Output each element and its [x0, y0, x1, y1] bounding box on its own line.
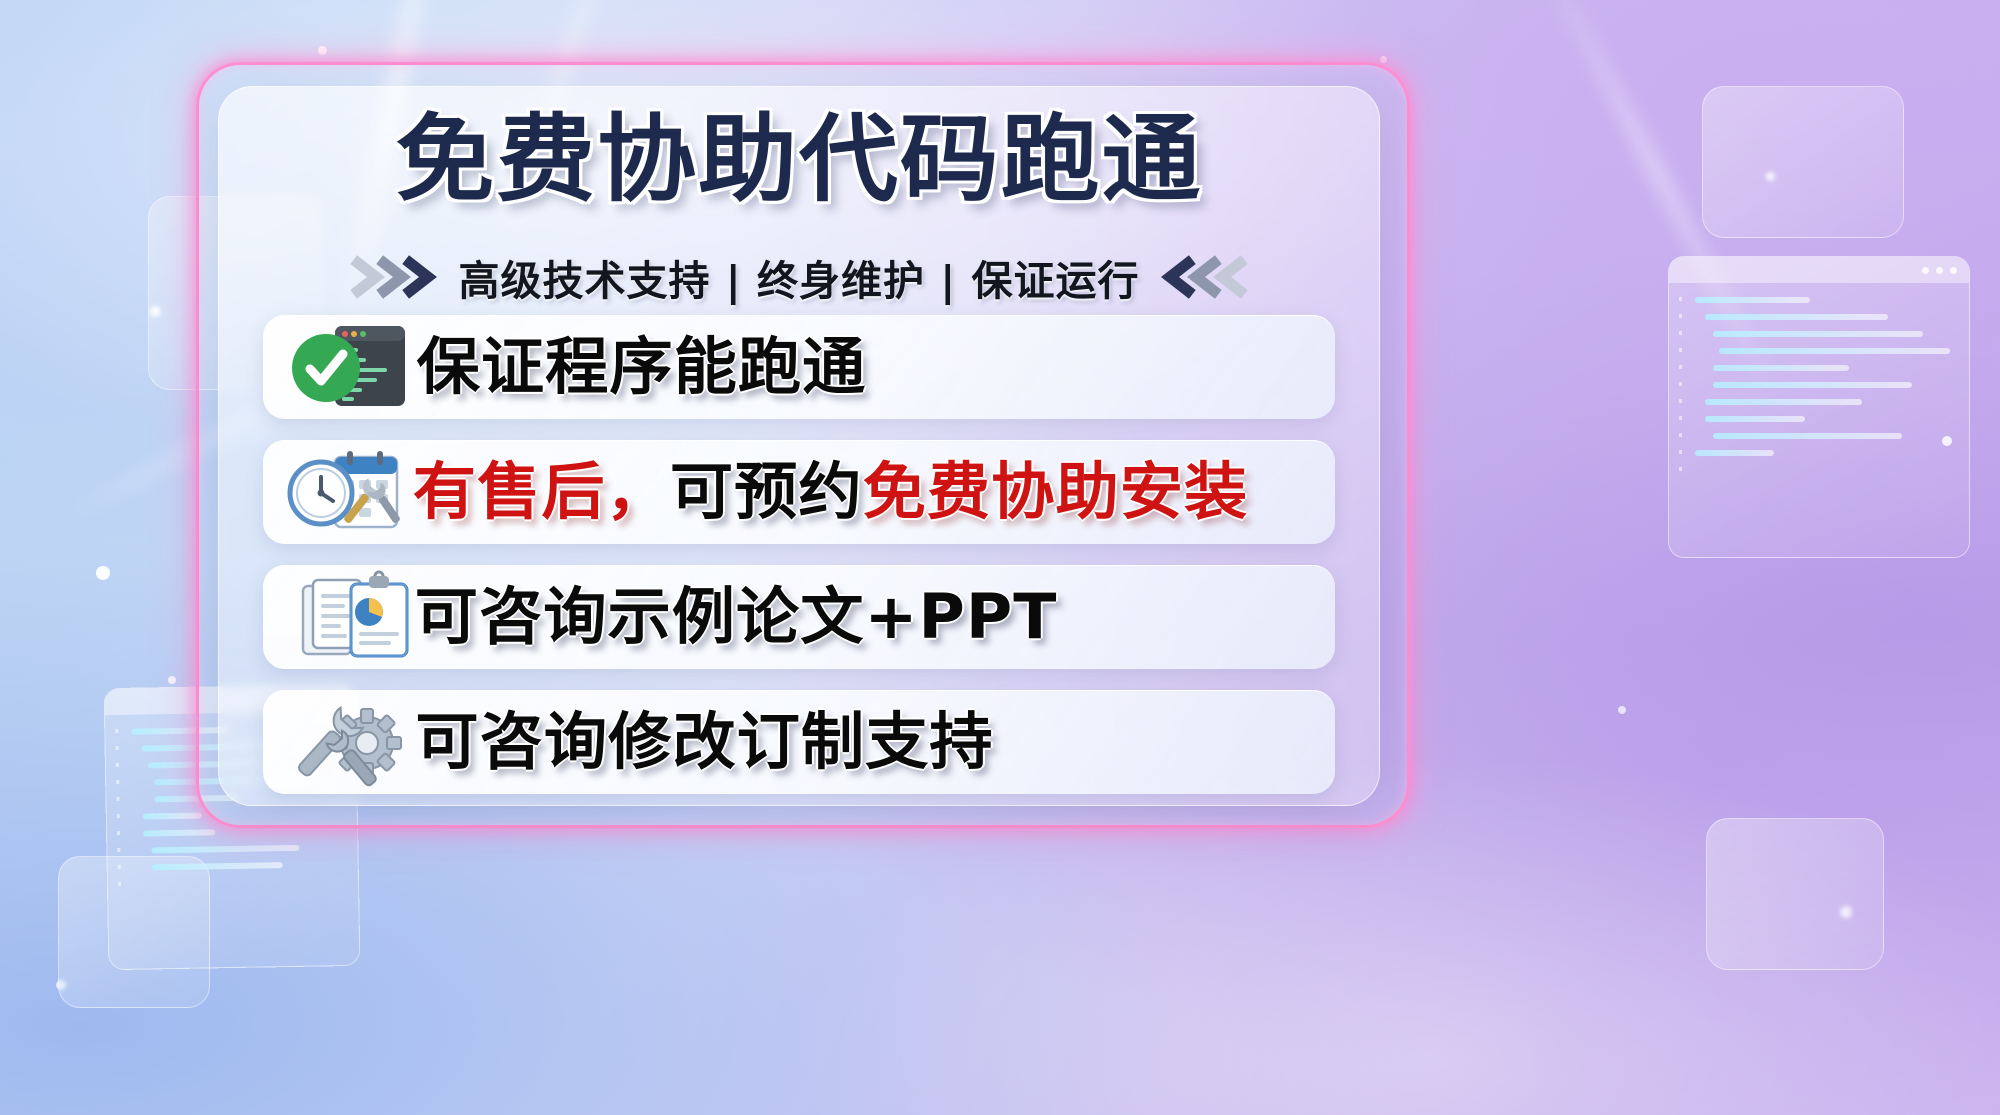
wrench-gear-icon: [289, 697, 421, 787]
code-line: [1705, 399, 1862, 405]
feature-row-2-text: 有售后，可预约免费协助安装: [413, 461, 1248, 523]
bokeh-dot: [318, 46, 327, 55]
feature-text-segment: 可预约: [670, 455, 863, 528]
green-check-code-window-icon: [289, 322, 421, 412]
feature-list: 保证程序能跑通: [263, 315, 1335, 815]
code-line: [1705, 314, 1888, 320]
code-line: [1695, 297, 1810, 303]
feature-text-segment: 保证程序能跑通: [417, 330, 867, 403]
feature-row-3-text: 可咨询示例论文+PPT: [415, 586, 1058, 648]
light-streak: [1529, 0, 1784, 405]
code-line: [1713, 382, 1912, 388]
bokeh-dot: [168, 676, 176, 684]
feature-text-segment: 可咨询修改订制支持: [415, 705, 993, 778]
code-line: [131, 727, 229, 735]
code-line: [143, 813, 202, 820]
chevrons-left-icon: [1158, 257, 1244, 297]
glass-panel: [58, 856, 210, 1008]
bokeh-dot: [1380, 56, 1387, 63]
code-line: [1713, 433, 1902, 439]
bokeh-dot: [56, 980, 66, 990]
code-line: [151, 845, 299, 854]
bokeh-dot: [96, 566, 110, 580]
feature-row-1[interactable]: 保证程序能跑通: [263, 315, 1335, 419]
code-line: [154, 795, 239, 802]
feature-row-2[interactable]: 有售后，可预约免费协助安装: [263, 440, 1335, 544]
code-window-titlebar: [1669, 257, 1969, 283]
glass-panel: [1706, 818, 1884, 970]
subtitle-row: 高级技术支持 | 终身维护 | 保证运行: [219, 247, 1379, 307]
subtitle-text: 高级技术支持 | 终身维护 | 保证运行: [458, 247, 1139, 307]
code-line: [1713, 331, 1923, 337]
feature-text-segment: 免费协助安装: [863, 455, 1249, 528]
code-window-body: [1669, 283, 1969, 479]
code-line: [1695, 450, 1774, 456]
feature-text-segment: 可咨询示例论文+PPT: [415, 580, 1058, 653]
feature-row-3[interactable]: 可咨询示例论文+PPT: [263, 565, 1335, 669]
code-line: [152, 862, 284, 870]
code-line: [1719, 348, 1950, 354]
glass-panel: [1702, 86, 1904, 238]
bokeh-dot: [1766, 172, 1775, 181]
main-content-card: 免费协助代码跑通 高级技术支持 | 终身维护 | 保证运行: [218, 86, 1380, 806]
code-line: [1705, 416, 1805, 422]
feature-row-4[interactable]: 可咨询修改订制支持: [263, 690, 1335, 794]
feature-row-1-text: 保证程序能跑通: [417, 336, 867, 398]
feature-text-segment: 有售后，: [413, 455, 670, 528]
window-dot-icon: [1922, 267, 1929, 274]
feature-row-4-text: 可咨询修改订制支持: [415, 711, 993, 773]
decorative-code-window-right: [1668, 256, 1970, 558]
code-line: [1713, 365, 1849, 371]
window-dot-icon: [1936, 267, 1943, 274]
chevrons-right-icon: [354, 257, 440, 297]
bokeh-dot: [1942, 436, 1952, 446]
line-number-gutter: [115, 729, 121, 886]
bokeh-dot: [1618, 706, 1626, 714]
promo-banner: 免费协助代码跑通 高级技术支持 | 终身维护 | 保证运行: [0, 0, 2000, 1115]
bokeh-dot: [150, 306, 161, 317]
clock-calendar-wrench-icon: [289, 447, 421, 537]
bokeh-dot: [1840, 906, 1852, 918]
documents-clipboard-chart-icon: [289, 572, 421, 662]
line-number-gutter: [1679, 297, 1682, 471]
page-title: 免费协助代码跑通: [196, 113, 1402, 208]
window-dot-icon: [1950, 267, 1957, 274]
code-line: [143, 829, 215, 836]
